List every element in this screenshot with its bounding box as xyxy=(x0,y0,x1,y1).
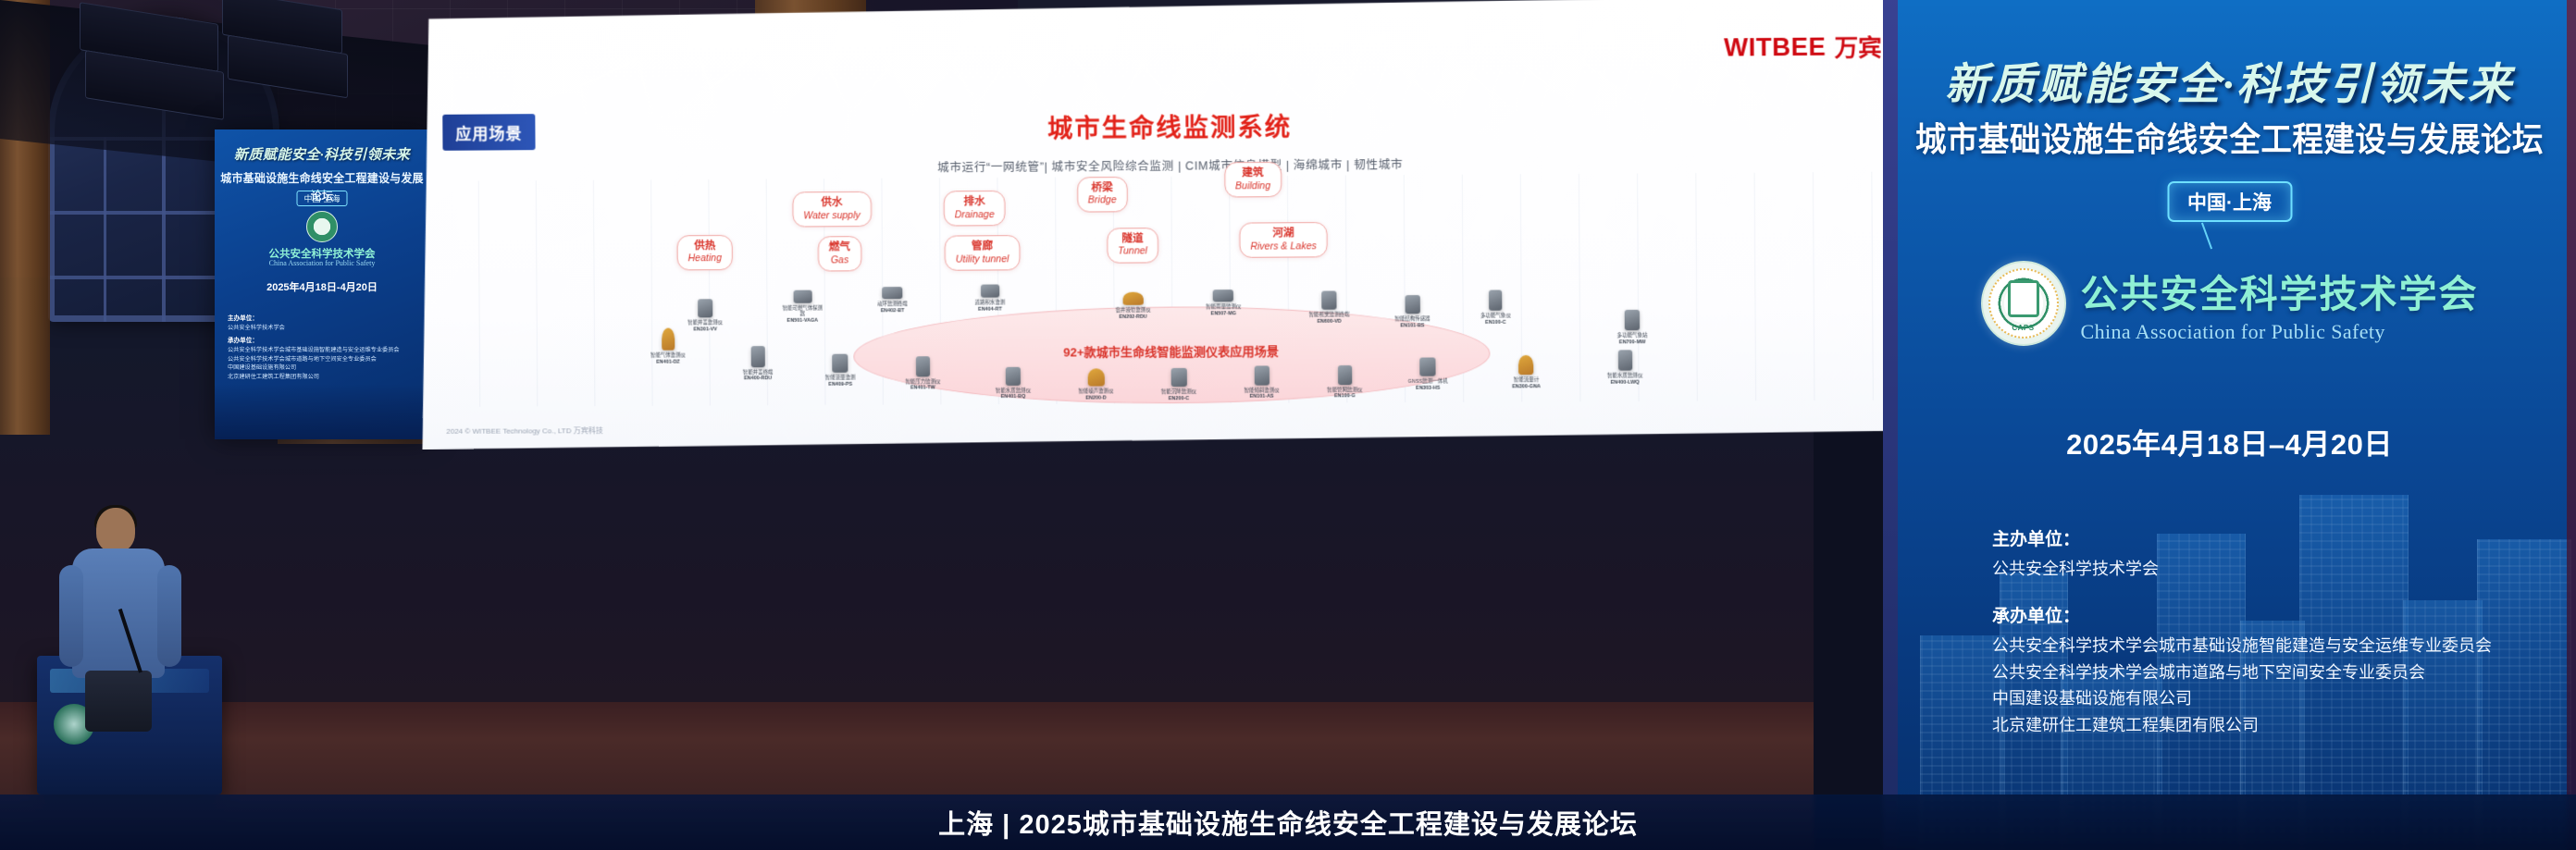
device-model-code: EN402-BT xyxy=(871,308,913,314)
device-model-code: EN507-MG xyxy=(1202,311,1245,316)
side-led-cohost-item: 中国建设基础设施有限公司 xyxy=(228,363,420,373)
led-cohost-item: 公共安全科学技术学会城市基础设施智能建造与安全运维专业委员会 xyxy=(1992,633,2554,659)
bottom-caption-bar: 上海 | 2025城市基础设施生命线安全工程建设与发展论坛 xyxy=(0,795,2576,850)
scenario-node-label-cn: 排水 xyxy=(955,196,995,209)
device-item: 道路积水监测EN404-RT xyxy=(969,284,1012,312)
presenter-arm-left xyxy=(59,565,83,667)
device-model-code: EN600-VD xyxy=(1307,319,1351,325)
led-association-row: CAPS 公共安全科学技术学会 China Association for Pu… xyxy=(1883,261,2576,346)
witbee-logo: WITBEE 万宾 xyxy=(1724,30,1882,65)
device-photo-icon xyxy=(882,287,902,299)
seal-emblem xyxy=(2008,280,2039,317)
device-model-code: EN101-BS xyxy=(1391,323,1434,328)
slide-footer-copyright: 2024 © WITBEE Technology Co., LTD 万宾科技 xyxy=(446,425,603,437)
device-photo-icon xyxy=(698,299,712,317)
device-photo-icon xyxy=(1213,289,1233,302)
scenario-node-label-cn: 建筑 xyxy=(1235,167,1270,180)
device-caption: 多功能气象仪 xyxy=(1474,314,1517,320)
device-model-code: EN700-MW xyxy=(1611,339,1654,345)
led-badge-pointer xyxy=(2200,223,2211,250)
device-photo-icon xyxy=(1489,290,1502,311)
device-caption: 智能雨量监测仪 xyxy=(1202,304,1245,311)
device-photo-icon xyxy=(1617,351,1631,371)
scenario-node-label-cn: 桥梁 xyxy=(1088,182,1117,195)
device-photo-icon xyxy=(833,354,848,373)
device-model-code: EN303-HS xyxy=(1406,386,1450,391)
device-item: 智能流量监测EN409-PS xyxy=(819,354,862,388)
device-item: 窨井液位监测仪EN202-RDU xyxy=(1111,292,1155,320)
device-photo-icon xyxy=(1254,365,1269,385)
device-caption: 智能水质监测仪 xyxy=(992,388,1034,394)
presenter-arm-right xyxy=(157,565,181,667)
device-model-code: EN200-C xyxy=(1158,396,1201,401)
device-photo-icon xyxy=(916,356,930,376)
device-item: 动环监测终端EN402-BT xyxy=(871,287,914,314)
device-photo-icon xyxy=(1419,358,1435,376)
device-model-code: EN200-D xyxy=(1074,395,1118,400)
device-model-code: EN400-LWQ xyxy=(1604,380,1647,386)
device-model-code: EN401-DZ xyxy=(647,360,689,365)
scenario-node: 建筑Building xyxy=(1224,162,1282,198)
device-caption: 智能水质监测仪 xyxy=(1604,374,1647,380)
scenario-node: 供水Water supply xyxy=(792,191,872,228)
scenario-node-label-en: Building xyxy=(1235,180,1270,192)
side-led-location-badge: 中国·上海 xyxy=(297,191,348,206)
scenario-node-label-en: Utility tunnel xyxy=(956,253,1009,265)
conference-photo: 新质赋能安全·科技引领未来 城市基础设施生命线安全工程建设与发展论坛 中国·上海… xyxy=(0,0,2576,850)
device-photo-icon xyxy=(981,284,999,297)
device-item: 智能噪声监测仪EN200-D xyxy=(1074,368,1118,400)
device-model-code: EN202-RDU xyxy=(1111,314,1155,320)
device-caption: GNSS监测一体机 xyxy=(1406,379,1450,386)
device-model-code: EN501-VAGA xyxy=(781,318,824,324)
led-association-en: China Association for Public Safety xyxy=(2081,320,2479,344)
device-caption: 道路积水监测 xyxy=(969,300,1011,306)
device-caption: 智能管网监测仪 xyxy=(1323,388,1367,394)
side-led-cohost-item: 公共安全科学技术学会城市基础设施智能建造与安全运维专业委员会 xyxy=(228,346,420,355)
device-caption: 窨井液位监测仪 xyxy=(1111,308,1155,314)
scenario-node: 供热Heating xyxy=(676,235,733,270)
scenario-node-label-cn: 供水 xyxy=(803,197,861,210)
device-caption: 智能倾斜监测仪 xyxy=(1240,388,1283,394)
side-led-date: 2025年4月18日-4月20日 xyxy=(215,279,429,294)
device-item: 智能视觉监测终端EN600-VD xyxy=(1307,291,1351,325)
slide-title: 城市生命线监测系统 xyxy=(420,103,1927,149)
led-host-item: 公共安全科学技术学会 xyxy=(1992,556,2554,582)
led-calligraphy-title: 新质赋能安全·科技引领未来 xyxy=(1883,48,2576,112)
scenario-node: 隧道Tunnel xyxy=(1107,228,1158,263)
scenario-node-label-en: Tunnel xyxy=(1118,246,1147,258)
caption-text: 上海 | 2025城市基础设施生命线安全工程建设与发展论坛 xyxy=(938,803,1638,842)
device-model-code: EN404-RT xyxy=(969,306,1011,312)
device-caption: 动环监测终端 xyxy=(871,302,913,308)
device-item: 智能压力监测仪EN401-TW xyxy=(901,356,945,391)
led-forum-title: 城市基础设施生命线安全工程建设与发展论坛 xyxy=(1907,113,2552,161)
presentation-slide: WITBEE 万宾 应用场景 城市生命线监测系统 城市运行“一网统管”| 城市安… xyxy=(420,0,1930,450)
device-item: 智能管网监测仪EN100-G xyxy=(1323,365,1367,400)
device-photo-icon xyxy=(1170,368,1186,387)
projection-screen: WITBEE 万宾 应用场景 城市生命线监测系统 城市运行“一网统管”| 城市安… xyxy=(420,0,1930,450)
led-event-date: 2025年4月18日–4月20日 xyxy=(1883,421,2576,462)
scenario-node-label-cn: 管廊 xyxy=(956,240,1009,253)
side-led-cohost-item: 北京建研住工建筑工程集团有限公司 xyxy=(228,373,420,382)
scenario-node-label-cn: 供热 xyxy=(687,240,721,253)
device-model-code: EN301-VV xyxy=(684,326,726,332)
device-item: 智能沉降监测仪EN200-C xyxy=(1157,368,1200,401)
device-photo-icon xyxy=(1087,368,1104,386)
device-item: 智能水质监测仪EN400-LWQ xyxy=(1604,350,1647,385)
device-caption: 多功能气象站 xyxy=(1611,333,1654,339)
main-led-backdrop: 新质赋能安全·科技引领未来 城市基础设施生命线安全工程建设与发展论坛 中国·上海… xyxy=(1883,0,2576,850)
device-photo-icon xyxy=(793,289,811,302)
witbee-chinese-name: 万宾 xyxy=(1834,30,1881,64)
device-model-code: EN409-PS xyxy=(819,382,861,388)
device-caption: 智能结构传感器 xyxy=(1391,316,1434,323)
device-item: 智能井盖终端EN400-RDU xyxy=(737,346,779,382)
scenario-node-label-cn: 隧道 xyxy=(1118,233,1147,246)
presenter-head xyxy=(96,508,135,552)
platform-ellipse-label: 92+款城市生命线智能监测仪表应用场景 xyxy=(1063,341,1279,360)
side-led-host-item: 公共安全科学技术学会 xyxy=(228,324,420,333)
device-item: 多功能气象仪EN100-C xyxy=(1474,290,1517,326)
side-led-cohost-heading: 承办单位： xyxy=(228,337,420,346)
led-cohost-item: 中国建设基础设施有限公司 xyxy=(1992,685,2554,711)
side-led-host-heading: 主办单位： xyxy=(228,314,420,324)
led-cohost-heading: 承办单位： xyxy=(1992,602,2554,627)
led-host-heading: 主办单位： xyxy=(1992,525,2554,550)
scenario-node-label-en: Heating xyxy=(688,253,722,265)
caps-seal-icon: CAPS xyxy=(1981,261,2066,346)
presenter-legs xyxy=(85,671,152,732)
device-caption: 智能流量监测 xyxy=(819,376,861,382)
scenario-node-label-en: Gas xyxy=(829,254,850,266)
led-cohost-item: 北京建研住工建筑工程集团有限公司 xyxy=(1992,712,2554,738)
device-caption: 智能视觉监测终端 xyxy=(1307,313,1351,319)
device-item: 智能水质监测仪EN401-BQ xyxy=(992,366,1035,400)
device-model-code: EN401-TW xyxy=(901,386,944,391)
led-cohost-item: 公共安全科学技术学会城市道路与地下空间安全专业委员会 xyxy=(1992,659,2554,685)
seal-abbrev-text: CAPS xyxy=(1983,324,2064,332)
scenario-node: 燃气Gas xyxy=(818,236,862,271)
device-caption: 智能井盖终端 xyxy=(737,370,779,376)
device-item: 智能雨量监测仪EN507-MG xyxy=(1202,289,1245,316)
side-led-banner: 新质赋能安全·科技引领未来 城市基础设施生命线安全工程建设与发展论坛 中国·上海… xyxy=(215,129,429,439)
side-led-caps-seal-icon xyxy=(306,211,338,242)
scenario-node-label-en: Rivers & Lakes xyxy=(1250,240,1317,253)
slide-subtitle: 城市运行“一网统管”| 城市安全风险综合监测 | CIM城市信息模型 | 海绵城… xyxy=(421,151,1928,179)
side-led-cohost-item: 公共安全科学技术学会城市道路与地下空间安全专业委员会 xyxy=(228,355,420,364)
device-item: 智能井盖监测仪EN301-VV xyxy=(684,299,726,332)
device-caption: 智能压力监测仪 xyxy=(901,379,944,386)
device-photo-icon xyxy=(1006,366,1021,385)
device-photo-icon xyxy=(662,328,675,351)
scenario-node-label-cn: 燃气 xyxy=(829,241,850,254)
device-photo-icon xyxy=(1122,292,1143,305)
device-item: GNSS监测一体机EN303-HS xyxy=(1406,358,1450,391)
device-photo-icon xyxy=(1405,295,1419,314)
led-location-badge: 中国·上海 xyxy=(2167,181,2292,222)
device-model-code: EN401-BQ xyxy=(992,394,1034,400)
presenter-body xyxy=(72,548,165,678)
device-model-code: EN100-C xyxy=(1474,320,1517,326)
device-model-code: EN101-AS xyxy=(1240,394,1283,400)
device-caption: 智能噪声监测仪 xyxy=(1074,388,1118,395)
scenario-node: 河湖Rivers & Lakes xyxy=(1239,222,1328,258)
side-led-organizers: 主办单位： 公共安全科学技术学会 承办单位： 公共安全科学技术学会城市基础设施智… xyxy=(228,311,420,381)
scenario-node-label-en: Bridge xyxy=(1088,194,1117,206)
device-item: 智能结构传感器EN101-BS xyxy=(1391,295,1434,328)
device-caption: 智能气体监测仪 xyxy=(647,353,689,360)
device-item: 多功能气象站EN700-MW xyxy=(1610,310,1653,345)
device-item: 智能可燃气体探测器EN501-VAGA xyxy=(781,289,824,324)
led-organizer-block: 主办单位： 公共安全科学技术学会 承办单位： 公共安全科学技术学会城市基础设施智… xyxy=(1992,525,2554,738)
side-led-association-en: China Association for Public Safety xyxy=(215,259,429,267)
device-photo-icon xyxy=(1321,291,1336,310)
scenario-node-label-cn: 河湖 xyxy=(1250,228,1317,240)
side-led-calligraphy-title: 新质赋能安全·科技引领未来 xyxy=(215,144,429,164)
scenario-node: 管廊Utility tunnel xyxy=(944,235,1020,271)
scenario-node: 桥梁Bridge xyxy=(1077,177,1128,212)
device-model-code: EN400-RDU xyxy=(737,376,779,381)
led-association-cn: 公共安全科学技术学会 xyxy=(2081,263,2479,318)
device-photo-icon xyxy=(1518,355,1533,375)
device-model-code: EN300-GNA xyxy=(1505,384,1548,389)
device-item: 智能流量计EN300-GNA xyxy=(1505,355,1548,389)
witbee-wordmark: WITBEE xyxy=(1724,32,1827,62)
device-item: 智能倾斜监测仪EN101-AS xyxy=(1240,365,1283,400)
scenario-node: 排水Drainage xyxy=(943,191,1005,227)
device-model-code: EN100-G xyxy=(1323,393,1367,399)
device-caption: 智能井盖监测仪 xyxy=(684,320,726,326)
scenario-node-label-en: Drainage xyxy=(955,209,995,221)
device-photo-icon xyxy=(750,346,764,367)
device-photo-icon xyxy=(1338,365,1352,385)
device-photo-icon xyxy=(1625,310,1640,330)
scenario-node-label-en: Water supply xyxy=(803,210,861,222)
side-led-bottom-fade xyxy=(215,384,429,439)
device-caption: 智能沉降监测仪 xyxy=(1158,389,1201,396)
device-caption: 智能可燃气体探测器 xyxy=(781,305,824,318)
device-item: 智能气体监测仪EN401-DZ xyxy=(647,328,689,365)
